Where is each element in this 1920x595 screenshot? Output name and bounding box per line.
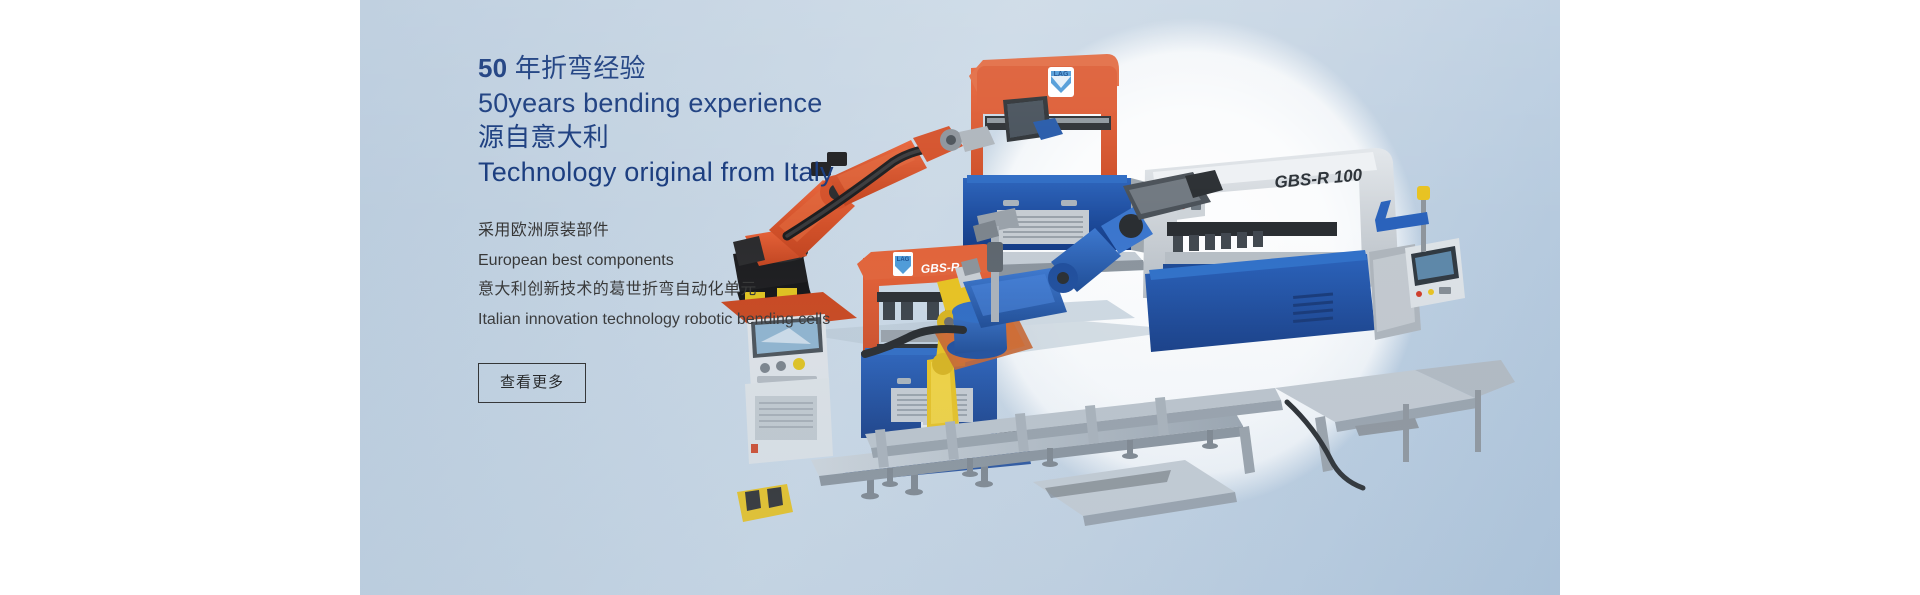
- page-root: LAG: [0, 0, 1920, 595]
- lag-logo-upper: LAG: [1048, 67, 1074, 97]
- svg-text:LAG: LAG: [1054, 71, 1069, 78]
- headline-line-1: 50 年折弯经验: [478, 52, 998, 86]
- hmi-panel-gbs100: [1405, 238, 1465, 308]
- subtext-group: 采用欧洲原装部件 European best components 意大利创新技…: [478, 216, 998, 335]
- headline-number-rest: 年折弯经验: [507, 53, 645, 83]
- headline-number: 50: [478, 53, 507, 83]
- headline-group: 50 年折弯经验 50years bending experience 源自意大…: [478, 52, 998, 190]
- hero-copy: 50 年折弯经验 50years bending experience 源自意大…: [478, 52, 998, 403]
- view-more-button[interactable]: 查看更多: [478, 363, 586, 403]
- subtext-line-1: 采用欧洲原装部件: [478, 216, 998, 246]
- headline-line-4: Technology original from Italy: [478, 155, 998, 190]
- headline-line-3: 源自意大利: [478, 121, 998, 155]
- subtext-line-3: 意大利创新技术的葛世折弯自动化单元: [478, 275, 998, 305]
- subtext-line-2: European best components: [478, 246, 998, 276]
- hero-banner: LAG: [360, 0, 1560, 595]
- subtext-line-4: Italian innovation technology robotic be…: [478, 305, 998, 335]
- headline-line-2: 50years bending experience: [478, 86, 998, 121]
